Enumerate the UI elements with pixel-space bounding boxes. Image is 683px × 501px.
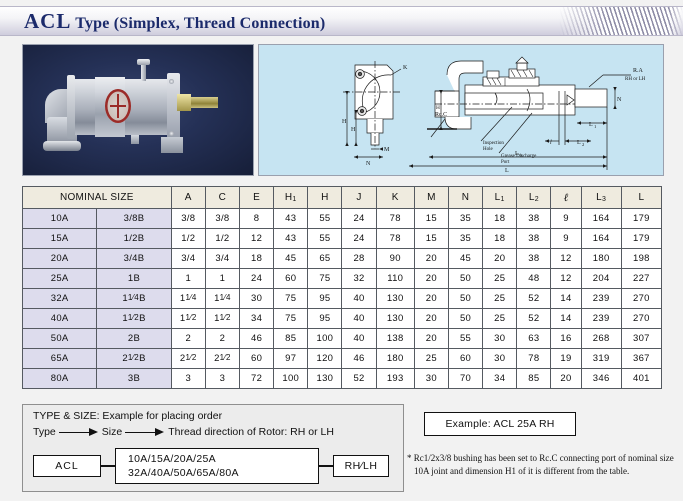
col-header-a: A: [171, 187, 205, 209]
order-sizes-line-2: 32A/40A/50A/65A/80A: [118, 466, 318, 480]
cell-c: 11⁄4: [205, 289, 239, 309]
order-heading: TYPE & SIZE: Example for placing order: [33, 410, 222, 422]
cell-m: 20: [414, 269, 448, 289]
cell-a: 3/8: [171, 209, 205, 229]
cell-l: 179: [621, 209, 661, 229]
cell-nominal-size: 20A: [23, 249, 97, 269]
cell-h1: 75: [274, 309, 308, 329]
cell-nominal-size: 80A: [23, 369, 97, 389]
connector-line-1: [101, 465, 115, 467]
cell-h: 55: [308, 209, 342, 229]
svg-text:H: H: [436, 105, 440, 111]
cell-m: 25: [414, 349, 448, 369]
cell-thread-size: 11⁄2B: [97, 309, 171, 329]
photo-flange-left: [67, 75, 75, 139]
cell-j: 28: [342, 249, 376, 269]
cell-c: 1/2: [205, 229, 239, 249]
cell-h1: 43: [274, 229, 308, 249]
col-header-h1: H1: [274, 187, 308, 209]
table-row: 80A3B3372100130521933070348520346401: [23, 369, 662, 389]
cell-j: 40: [342, 289, 376, 309]
drawing-label-h1: H: [351, 127, 356, 133]
cell-l: 270: [621, 289, 661, 309]
cell-nominal-size: 50A: [23, 329, 97, 349]
cell-c: 11⁄2: [205, 309, 239, 329]
cell-l3: 268: [581, 329, 621, 349]
cell-l: 367: [621, 349, 661, 369]
cell-l: 307: [621, 329, 661, 349]
order-step-type: Type: [33, 426, 56, 438]
cell-n: 45: [448, 249, 482, 269]
table-row: 32A11⁄4B11⁄411⁄4307595401302050255214239…: [23, 289, 662, 309]
example-callout: Example: ACL 25A RH: [424, 412, 576, 436]
cell-l2: 38: [517, 249, 551, 269]
col-header-e: E: [240, 187, 274, 209]
cell-c: 2: [205, 329, 239, 349]
table-body: 10A3/8B3/83/884355247815351838916417915A…: [23, 209, 662, 389]
cell-a: 1: [171, 269, 205, 289]
cell-l1: 30: [483, 349, 517, 369]
svg-text:Port: Port: [501, 160, 510, 165]
specification-table: NOMINAL SIZE A C E H1 H J K M N L1 L2 ℓ …: [22, 186, 662, 389]
table-row: 25A1B11246075321102050254812204227: [23, 269, 662, 289]
order-step-size: Size: [102, 426, 122, 438]
table-row: 50A2B224685100401382055306316268307: [23, 329, 662, 349]
cell-h: 55: [308, 229, 342, 249]
col-header-h: H: [308, 187, 342, 209]
photo-grease-nipple-cap: [137, 59, 150, 65]
cell-nominal-size: 10A: [23, 209, 97, 229]
drawing-label-n: N: [366, 161, 371, 167]
table-row: 65A21⁄2B21⁄221⁄2609712046180256030781931…: [23, 349, 662, 369]
cell-l1: 20: [483, 249, 517, 269]
drawing-label-rhlh: RH or LH: [625, 77, 646, 82]
order-example-panel: TYPE & SIZE: Example for placing order T…: [22, 404, 404, 492]
drawing-label-n-right: N: [617, 97, 622, 103]
cell-l3: 239: [581, 289, 621, 309]
col-header-k: K: [376, 187, 414, 209]
drawing-label-m: M: [384, 147, 390, 153]
cell-m: 20: [414, 289, 448, 309]
order-code-chain: ACL 10A/15A/20A/25A 32A/40A/50A/65A/80A …: [33, 447, 393, 485]
cell-l: 270: [621, 309, 661, 329]
cell-a: 3: [171, 369, 205, 389]
cell-h: 95: [308, 309, 342, 329]
order-box-type: ACL: [33, 455, 101, 477]
order-steps: Type Size Thread direction of Rotor: RH …: [33, 426, 334, 438]
cell-a: 11⁄4: [171, 289, 205, 309]
cell-k: 180: [376, 349, 414, 369]
cell-h1: 75: [274, 289, 308, 309]
col-header-l2: L2: [517, 187, 551, 209]
photo-brand-emblem: [105, 89, 131, 123]
product-photo: [22, 44, 254, 176]
col-header-l1: L1: [483, 187, 517, 209]
cell-l: 19: [551, 349, 581, 369]
cell-thread-size: 3B: [97, 369, 171, 389]
photo-elbow-lip: [43, 141, 81, 151]
cell-m: 20: [414, 329, 448, 349]
svg-text:Hole: Hole: [483, 147, 494, 152]
drawing-label-k: K: [403, 65, 408, 71]
drawing-label-l1: L: [589, 122, 593, 128]
cell-k: 130: [376, 289, 414, 309]
cell-j: 40: [342, 329, 376, 349]
cell-l1: 25: [483, 269, 517, 289]
cell-e: 12: [240, 229, 274, 249]
photo-shaft-hex: [177, 94, 191, 111]
col-header-m: M: [414, 187, 448, 209]
cell-l3: 180: [581, 249, 621, 269]
order-sizes-line-1: 10A/15A/20A/25A: [118, 452, 318, 466]
cell-n: 70: [448, 369, 482, 389]
cell-thread-size: 21⁄2B: [97, 349, 171, 369]
col-header-ell: ℓ: [551, 187, 581, 209]
col-header-j: J: [342, 187, 376, 209]
col-header-c: C: [205, 187, 239, 209]
cell-e: 8: [240, 209, 274, 229]
footnote: * Rc1/2x3/8 bushing has been set to Rc.C…: [414, 452, 676, 477]
cell-l: 16: [551, 329, 581, 349]
cell-l: 14: [551, 309, 581, 329]
drawing-label-rcc: Rc.C: [435, 112, 447, 118]
table-header-row: NOMINAL SIZE A C E H1 H J K M N L1 L2 ℓ …: [23, 187, 662, 209]
col-header-nominal-size: NOMINAL SIZE: [23, 187, 172, 209]
cell-k: 90: [376, 249, 414, 269]
cell-l2: 38: [517, 209, 551, 229]
cell-l: 179: [621, 229, 661, 249]
datasheet-page: ACL Type (Simplex, Thread Connection): [0, 0, 683, 501]
diagonal-stripes-icon: [559, 7, 683, 35]
photo-grease-nipple: [141, 63, 146, 81]
cell-nominal-size: 25A: [23, 269, 97, 289]
cell-a: 21⁄2: [171, 349, 205, 369]
cell-l1: 18: [483, 229, 517, 249]
cell-n: 55: [448, 329, 482, 349]
cell-k: 78: [376, 229, 414, 249]
cell-e: 18: [240, 249, 274, 269]
cell-l: 401: [621, 369, 661, 389]
drawing-label-l3: L: [515, 151, 519, 157]
cell-thread-size: 1B: [97, 269, 171, 289]
cell-l1: 25: [483, 289, 517, 309]
cell-m: 30: [414, 369, 448, 389]
cell-h1: 97: [274, 349, 308, 369]
cell-h: 65: [308, 249, 342, 269]
cell-h: 75: [308, 269, 342, 289]
cell-l: 12: [551, 249, 581, 269]
cell-l2: 52: [517, 309, 551, 329]
cell-l2: 85: [517, 369, 551, 389]
cell-e: 34: [240, 309, 274, 329]
cell-l2: 78: [517, 349, 551, 369]
cell-l2: 52: [517, 289, 551, 309]
cell-k: 110: [376, 269, 414, 289]
cell-l3: 319: [581, 349, 621, 369]
cell-j: 40: [342, 309, 376, 329]
order-box-direction: RH∕LH: [333, 455, 389, 477]
cell-l: 198: [621, 249, 661, 269]
svg-text:2: 2: [582, 142, 584, 147]
cell-h1: 43: [274, 209, 308, 229]
cell-l: 227: [621, 269, 661, 289]
cell-e: 72: [240, 369, 274, 389]
cell-nominal-size: 32A: [23, 289, 97, 309]
cell-l2: 63: [517, 329, 551, 349]
drawing-label-ra: R.A: [633, 68, 644, 74]
svg-text:1: 1: [594, 124, 596, 129]
page-title-model: ACL: [24, 9, 71, 33]
cell-a: 2: [171, 329, 205, 349]
table-row: 20A3/4B3/43/418456528902045203812180198: [23, 249, 662, 269]
cell-h: 95: [308, 289, 342, 309]
cell-h1: 85: [274, 329, 308, 349]
cell-thread-size: 2B: [97, 329, 171, 349]
cell-h: 120: [308, 349, 342, 369]
cell-l2: 38: [517, 229, 551, 249]
cell-h: 100: [308, 329, 342, 349]
connector-line-2: [319, 465, 333, 467]
cell-nominal-size: 40A: [23, 309, 97, 329]
cell-h: 130: [308, 369, 342, 389]
arrow-icon-1: [59, 428, 99, 437]
cell-c: 3/4: [205, 249, 239, 269]
cell-k: 193: [376, 369, 414, 389]
col-header-l3: L3: [581, 187, 621, 209]
cell-a: 11⁄2: [171, 309, 205, 329]
cell-n: 50: [448, 289, 482, 309]
cell-n: 50: [448, 309, 482, 329]
cell-e: 24: [240, 269, 274, 289]
cell-l: 14: [551, 289, 581, 309]
cell-n: 60: [448, 349, 482, 369]
cell-l3: 239: [581, 309, 621, 329]
cell-m: 15: [414, 229, 448, 249]
cell-l1: 18: [483, 209, 517, 229]
footnote-text: * Rc1/2x3/8 bushing has been set to Rc.C…: [407, 453, 674, 476]
cell-l: 9: [551, 209, 581, 229]
cell-h1: 45: [274, 249, 308, 269]
col-header-n: N: [448, 187, 482, 209]
dimension-drawing: K H H M N Rc.C H R.A RH or LH N Inspecti…: [258, 44, 664, 176]
cell-thread-size: 3/8B: [97, 209, 171, 229]
cell-thread-size: 1/2B: [97, 229, 171, 249]
cell-m: 20: [414, 249, 448, 269]
cell-e: 60: [240, 349, 274, 369]
cell-k: 138: [376, 329, 414, 349]
cell-c: 3: [205, 369, 239, 389]
dimension-drawing-svg: K H H M N Rc.C H R.A RH or LH N Inspecti…: [259, 45, 663, 175]
order-box-sizes: 10A/15A/20A/25A 32A/40A/50A/65A/80A: [115, 448, 319, 484]
cell-l1: 25: [483, 309, 517, 329]
cell-l3: 204: [581, 269, 621, 289]
cell-n: 35: [448, 229, 482, 249]
cell-h1: 100: [274, 369, 308, 389]
cell-k: 130: [376, 309, 414, 329]
cell-thread-size: 11⁄4B: [97, 289, 171, 309]
cell-m: 20: [414, 309, 448, 329]
page-title-suffix: Type (Simplex, Thread Connection): [71, 15, 325, 32]
drawing-label-inspection-hole: Inspection: [483, 141, 504, 146]
cell-l3: 164: [581, 229, 621, 249]
page-header: ACL Type (Simplex, Thread Connection): [0, 6, 683, 36]
cell-l2: 48: [517, 269, 551, 289]
cell-h1: 60: [274, 269, 308, 289]
cell-k: 78: [376, 209, 414, 229]
col-header-l: L: [621, 187, 661, 209]
cell-n: 50: [448, 269, 482, 289]
cell-e: 46: [240, 329, 274, 349]
page-title: ACL Type (Simplex, Thread Connection): [24, 9, 325, 34]
cell-nominal-size: 65A: [23, 349, 97, 369]
cell-c: 3/8: [205, 209, 239, 229]
cell-n: 35: [448, 209, 482, 229]
cell-thread-size: 3/4B: [97, 249, 171, 269]
cell-j: 46: [342, 349, 376, 369]
cell-l1: 34: [483, 369, 517, 389]
cell-l3: 346: [581, 369, 621, 389]
table-row: 15A1/2B1/21/21243552478153518389164179: [23, 229, 662, 249]
table-row: 40A11⁄2B11⁄211⁄2347595401302050255214239…: [23, 309, 662, 329]
order-step-direction: Thread direction of Rotor: RH or LH: [168, 426, 334, 438]
cell-a: 3/4: [171, 249, 205, 269]
cell-a: 1/2: [171, 229, 205, 249]
cell-m: 15: [414, 209, 448, 229]
drawing-label-l2: L: [577, 140, 581, 146]
photo-drain-port: [131, 135, 139, 144]
cell-e: 30: [240, 289, 274, 309]
cell-j: 52: [342, 369, 376, 389]
photo-mounting-foot: [161, 137, 183, 153]
cell-l3: 164: [581, 209, 621, 229]
cell-j: 24: [342, 209, 376, 229]
cell-l: 9: [551, 229, 581, 249]
arrow-icon-2: [125, 428, 165, 437]
drawing-label-h: H: [342, 119, 347, 125]
cell-l: 20: [551, 369, 581, 389]
cell-j: 32: [342, 269, 376, 289]
table-row: 10A3/8B3/83/8843552478153518389164179: [23, 209, 662, 229]
cell-l: 12: [551, 269, 581, 289]
cell-c: 1: [205, 269, 239, 289]
cell-c: 21⁄2: [205, 349, 239, 369]
drawing-label-l: L: [505, 168, 509, 174]
cell-j: 24: [342, 229, 376, 249]
cell-nominal-size: 15A: [23, 229, 97, 249]
cell-l1: 30: [483, 329, 517, 349]
